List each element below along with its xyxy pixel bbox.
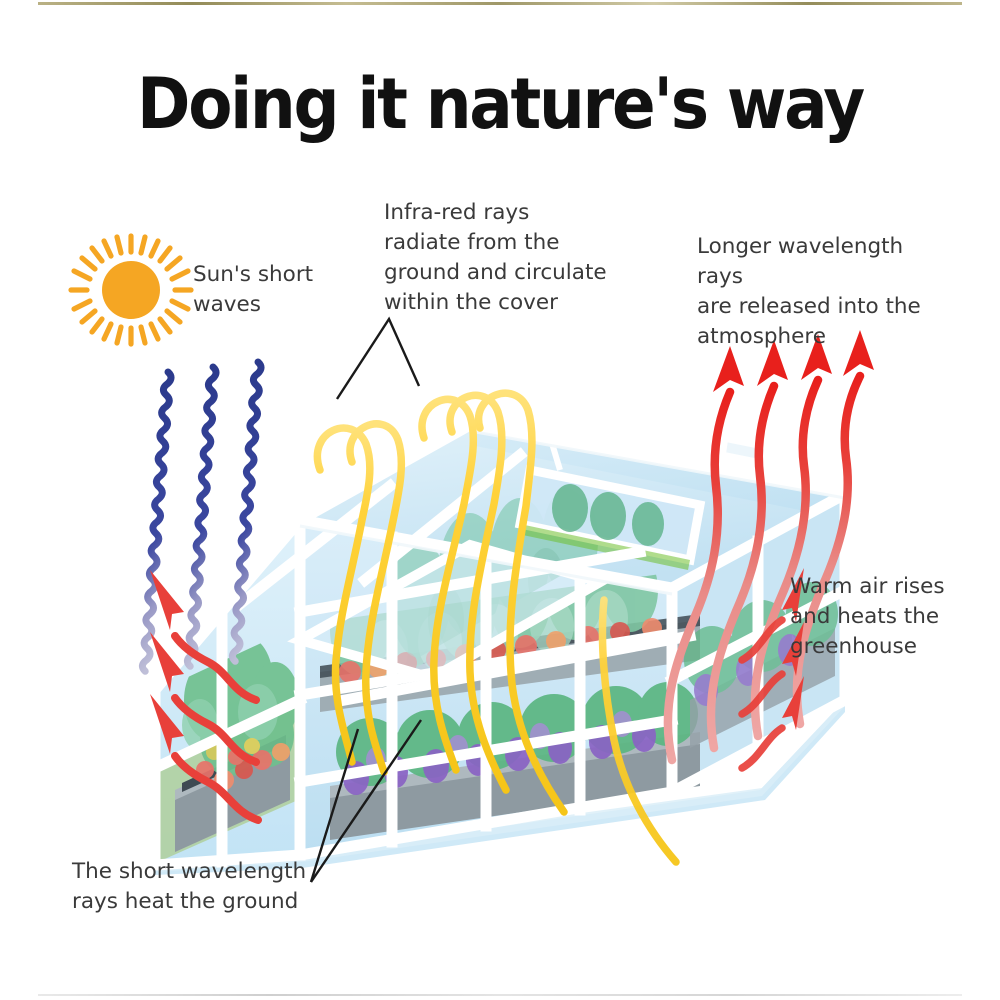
warm-air-arrowheads-left xyxy=(150,570,184,754)
roof-far-pane xyxy=(470,425,840,510)
warm-air-label: Warm air rises and heats the greenhouse xyxy=(790,572,970,662)
roof-sash-front-open xyxy=(300,545,600,678)
floor-plane xyxy=(158,700,845,872)
long-wavelength-label: Longer wavelength rays are released into… xyxy=(697,232,947,352)
greenhouse-floor xyxy=(155,700,845,875)
roof-vent-open xyxy=(518,430,766,570)
page-title: Doing it nature's way xyxy=(40,66,960,142)
greenhouse-structure xyxy=(155,425,845,875)
greenhouse-illustration xyxy=(0,0,1000,1000)
long-wavelength-label-line-1: Longer wavelength rays xyxy=(697,232,947,292)
warm-air-rising-arrows-right xyxy=(742,620,782,768)
infra-red-label-line-4: within the cover xyxy=(384,288,614,318)
infra-red-label-line-1: Infra-red rays xyxy=(384,198,614,228)
infra-red-leader-pointer xyxy=(337,319,419,399)
warm-air-label-line-2: and heats the xyxy=(790,602,970,632)
sun-icon xyxy=(71,236,191,344)
short-wavelength-incoming-waves xyxy=(61,362,343,671)
infra-red-label-line-2: radiate from the xyxy=(384,228,614,258)
long-wavelength-label-line-2: are released into the xyxy=(697,292,947,322)
sun-label-line-1: Sun's short xyxy=(193,260,373,290)
greenhouse-frame xyxy=(155,425,845,865)
short-wavelength-label-line-2: rays heat the ground xyxy=(72,887,332,917)
aubergine-fruits xyxy=(343,720,656,795)
sun-label: Sun's short waves xyxy=(193,260,373,320)
sun-label-line-2: waves xyxy=(193,290,373,320)
left-end-wall-ground xyxy=(158,700,298,862)
roof-seen-plants xyxy=(390,486,598,658)
short-wavelength-label: The short wavelength rays heat the groun… xyxy=(72,857,332,917)
roof-back-pane xyxy=(300,425,845,590)
infra-red-label: Infra-red rays radiate from the ground a… xyxy=(384,198,614,318)
front-wall-pane xyxy=(300,520,672,855)
warm-air-label-line-3: greenhouse xyxy=(790,632,970,662)
long-wavelength-escaping-arrows xyxy=(668,376,860,760)
short-wavelength-label-line-1: The short wavelength xyxy=(72,857,332,887)
bottom-divider-rule xyxy=(38,994,962,996)
infra-red-label-line-3: ground and circulate xyxy=(384,258,614,288)
warm-air-rising-arrows-left xyxy=(175,636,258,820)
top-divider-rule xyxy=(38,2,962,5)
infra-red-circulating-rays xyxy=(317,393,676,862)
tomato-fruits xyxy=(196,738,290,790)
left-end-wall-pane xyxy=(155,520,300,865)
front-planting-beds xyxy=(320,548,700,840)
infographic-page: Doing it nature's way xyxy=(0,0,1000,1000)
warm-air-label-line-1: Warm air rises xyxy=(790,572,970,602)
left-planting-bed xyxy=(175,636,299,852)
long-wavelength-label-line-3: atmosphere xyxy=(697,322,947,352)
